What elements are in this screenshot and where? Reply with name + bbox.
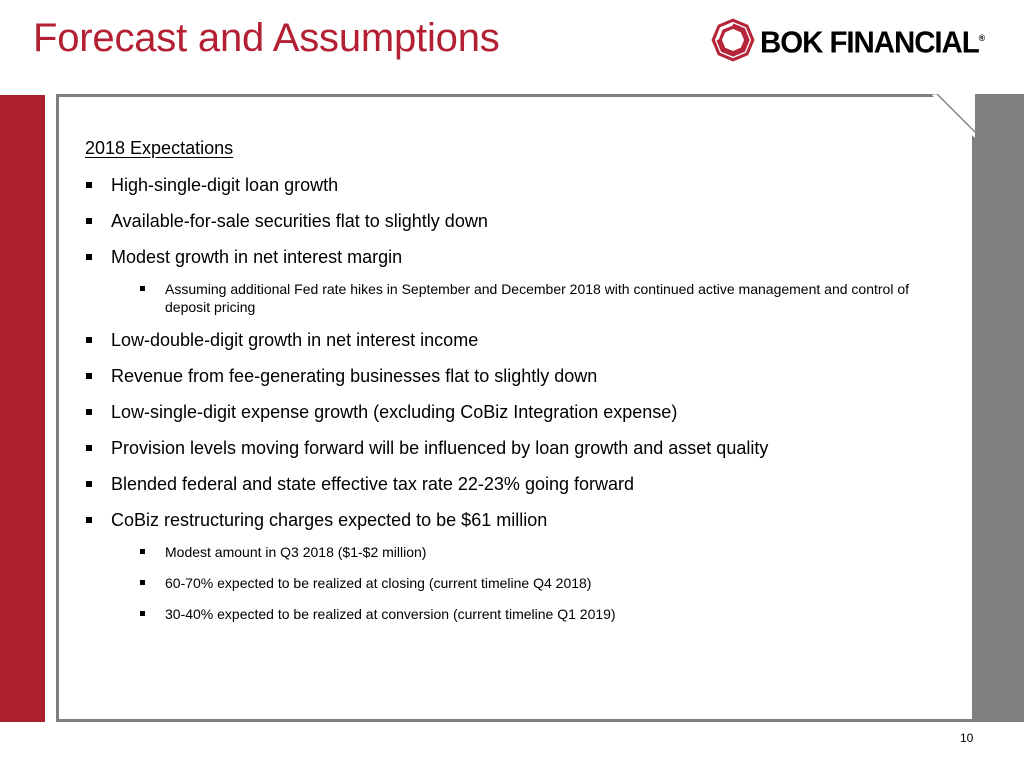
list-item-label: Blended federal and state effective tax … (111, 474, 634, 494)
content-frame: 2018 Expectations High-single-digit loan… (56, 94, 975, 722)
bullet-square-icon (140, 286, 145, 291)
registered-trademark-icon: ® (979, 33, 985, 43)
list-item-label: Low-double-digit growth in net interest … (111, 330, 478, 350)
sub-list-item-label: 30-40% expected to be realized at conver… (165, 606, 616, 622)
bullet-square-icon (86, 409, 92, 415)
slide-body: 2018 Expectations High-single-digit loan… (85, 137, 945, 636)
list-item-label: CoBiz restructuring charges expected to … (111, 510, 547, 530)
left-accent-bar (0, 95, 45, 722)
brand-wordmark-text: BOK FINANCIAL (760, 24, 979, 59)
list-item: Modest growth in net interest margin Ass… (85, 246, 945, 316)
brand-wordmark: BOK FINANCIAL® (760, 22, 985, 58)
list-item-label: High-single-digit loan growth (111, 175, 338, 195)
bullet-square-icon (86, 254, 92, 260)
page-number: 10 (960, 730, 973, 746)
bullet-square-icon (86, 481, 92, 487)
list-item: CoBiz restructuring charges expected to … (85, 509, 945, 623)
bullet-square-icon (86, 445, 92, 451)
list-item-label: Revenue from fee-generating businesses f… (111, 366, 597, 386)
expectations-list: High-single-digit loan growth Available-… (85, 174, 945, 623)
sub-list-item-label: Assuming additional Fed rate hikes in Se… (165, 281, 909, 315)
page-title: Forecast and Assumptions (33, 14, 500, 62)
presentation-slide: Forecast and Assumptions BOK FINANCIAL® (0, 0, 1024, 768)
sub-list-item: Assuming additional Fed rate hikes in Se… (135, 280, 945, 316)
bullet-square-icon (86, 337, 92, 343)
list-item: Blended federal and state effective tax … (85, 473, 945, 496)
list-item-label: Available-for-sale securities flat to sl… (111, 211, 488, 231)
section-heading: 2018 Expectations (85, 137, 945, 159)
sub-list-item: Modest amount in Q3 2018 ($1-$2 million) (135, 543, 945, 561)
bullet-square-icon (86, 517, 92, 523)
sub-list-item-label: 60-70% expected to be realized at closin… (165, 575, 591, 591)
list-item: Provision levels moving forward will be … (85, 437, 945, 460)
bullet-square-icon (140, 549, 145, 554)
bullet-square-icon (140, 580, 145, 585)
sub-list: Assuming additional Fed rate hikes in Se… (111, 280, 945, 316)
list-item: Available-for-sale securities flat to sl… (85, 210, 945, 233)
bullet-square-icon (140, 611, 145, 616)
sub-list-item: 60-70% expected to be realized at closin… (135, 574, 945, 592)
bok-financial-octagon-logo-icon (711, 18, 755, 62)
list-item-label: Low-single-digit expense growth (excludi… (111, 402, 677, 422)
list-item: Low-single-digit expense growth (excludi… (85, 401, 945, 424)
bullet-square-icon (86, 218, 92, 224)
brand-logo: BOK FINANCIAL® (711, 16, 1001, 64)
list-item: Revenue from fee-generating businesses f… (85, 365, 945, 388)
sub-list: Modest amount in Q3 2018 ($1-$2 million)… (111, 543, 945, 623)
bullet-square-icon (86, 182, 92, 188)
sub-list-item-label: Modest amount in Q3 2018 ($1-$2 million) (165, 544, 426, 560)
list-item-label: Modest growth in net interest margin (111, 247, 402, 267)
list-item: High-single-digit loan growth (85, 174, 945, 197)
bullet-square-icon (86, 373, 92, 379)
sub-list-item: 30-40% expected to be realized at conver… (135, 605, 945, 623)
list-item-label: Provision levels moving forward will be … (111, 438, 768, 458)
list-item: Low-double-digit growth in net interest … (85, 329, 945, 352)
